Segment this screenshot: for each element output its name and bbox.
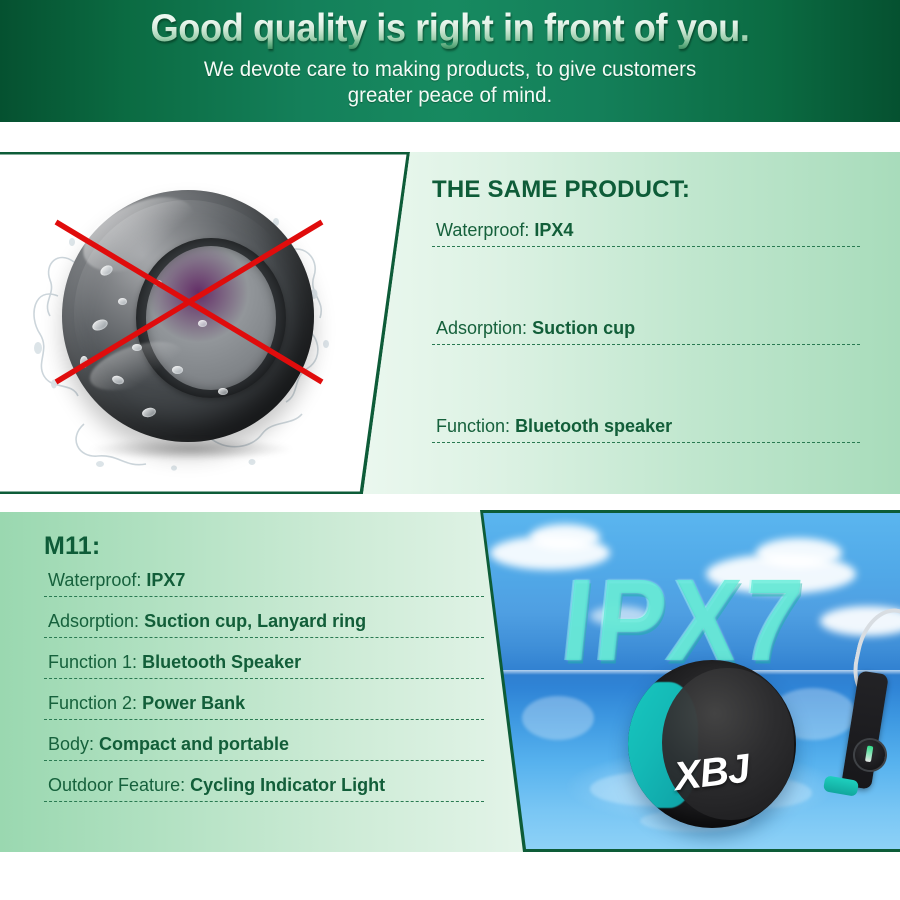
subtitle-line-1: We devote care to making products, to gi… [23, 56, 878, 82]
spec-divider [432, 344, 860, 345]
old-product-heading: THE SAME PRODUCT: [432, 176, 860, 204]
spec-divider [44, 801, 484, 802]
spec-row: Adsorption: Suction cup, Lanyard ring [44, 611, 484, 638]
spec-divider [44, 637, 484, 638]
new-product-image: IPX7 XBJ [470, 510, 900, 852]
spec-divider [44, 596, 484, 597]
spec-value: IPX7 [146, 570, 185, 590]
spec-value: Suction cup [532, 318, 635, 338]
crossed-out-red-x-icon [22, 170, 354, 482]
new-product-spec-list: M11: Waterproof: IPX7 Adsorption: Suctio… [44, 532, 484, 802]
cloud [530, 524, 600, 550]
spec-label: Body: [48, 734, 94, 754]
spec-row: Outdoor Feature: Cycling Indicator Light [44, 775, 484, 802]
page-subtitle: We devote care to making products, to gi… [23, 56, 878, 108]
header-banner: Good quality is right in front of you. W… [0, 0, 900, 122]
spec-divider [44, 760, 484, 761]
spec-row: Waterproof: IPX7 [44, 570, 484, 597]
spec-label: Adsorption: [436, 318, 527, 338]
old-product-image [22, 170, 332, 480]
spec-divider [44, 719, 484, 720]
spec-value: Suction cup, Lanyard ring [144, 611, 366, 631]
spec-value: IPX4 [534, 220, 573, 240]
spec-text: Outdoor Feature: Cycling Indicator Light [44, 775, 484, 796]
m11-speaker-product: XBJ [628, 660, 796, 828]
spec-divider [432, 246, 860, 247]
spec-row: Waterproof: IPX4 [432, 220, 860, 247]
spec-row: Function 2: Power Bank [44, 693, 484, 720]
subtitle-line-2: greater peace of mind. [23, 82, 878, 108]
spec-text: Function 1: Bluetooth Speaker [44, 652, 484, 673]
spec-value: Cycling Indicator Light [190, 775, 385, 795]
spec-text: Body: Compact and portable [44, 734, 484, 755]
spec-text: Function: Bluetooth speaker [432, 416, 860, 437]
spec-divider [44, 678, 484, 679]
water-splash [522, 696, 594, 740]
new-product-heading: M11: [44, 532, 484, 561]
spec-value: Power Bank [142, 693, 245, 713]
old-product-section: THE SAME PRODUCT: Waterproof: IPX4 Adsor… [0, 152, 900, 494]
old-product-spec-list: THE SAME PRODUCT: Waterproof: IPX4 Adsor… [432, 176, 860, 443]
spec-text: Function 2: Power Bank [44, 693, 484, 714]
spec-label: Function 1: [48, 652, 137, 672]
spec-row: Adsorption: Suction cup [432, 318, 860, 345]
spec-value: Bluetooth Speaker [142, 652, 301, 672]
spec-label: Waterproof: [48, 570, 141, 590]
spec-label: Outdoor Feature: [48, 775, 185, 795]
page-title: Good quality is right in front of you. [32, 7, 869, 51]
spec-text: Waterproof: IPX7 [44, 570, 484, 591]
spec-text: Adsorption: Suction cup, Lanyard ring [44, 611, 484, 632]
spec-label: Waterproof: [436, 220, 529, 240]
infographic-page: Good quality is right in front of you. W… [0, 0, 900, 900]
spec-row: Function 1: Bluetooth Speaker [44, 652, 484, 679]
spec-label: Adsorption: [48, 611, 139, 631]
spec-row: Function: Bluetooth speaker [432, 416, 860, 443]
spec-text: Adsorption: Suction cup [432, 318, 860, 339]
spec-value: Compact and portable [99, 734, 289, 754]
lanyard-strap [841, 670, 889, 789]
new-product-section: M11: Waterproof: IPX7 Adsorption: Suctio… [0, 510, 900, 852]
spec-text: Waterproof: IPX4 [432, 220, 860, 241]
old-product-photo-frame [0, 152, 412, 494]
new-product-photo-frame: IPX7 XBJ [470, 510, 900, 852]
spec-row: Body: Compact and portable [44, 734, 484, 761]
spec-divider [432, 442, 860, 443]
spec-value: Bluetooth speaker [515, 416, 672, 436]
spec-label: Function 2: [48, 693, 137, 713]
spec-label: Function: [436, 416, 510, 436]
